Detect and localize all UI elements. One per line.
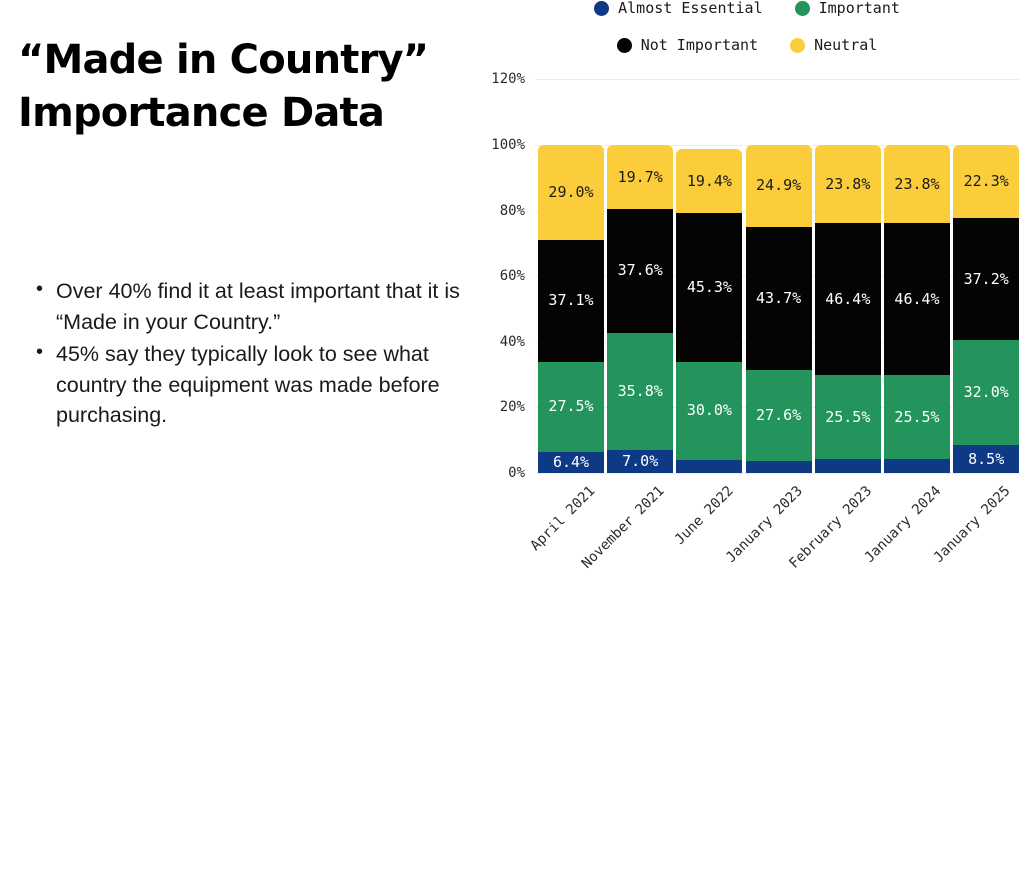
bar-value-label: 37.6% [618, 263, 663, 278]
bar-value-label: 35.8% [618, 384, 663, 399]
bars: 29.0%37.1%27.5%6.4%19.7%37.6%35.8%7.0%19… [470, 0, 1024, 576]
bar-segment-important[interactable]: 30.0% [676, 362, 742, 460]
bar-value-label: 37.2% [964, 272, 1009, 287]
bar-value-label: 25.5% [825, 410, 870, 425]
bar-stack[interactable]: 23.8%46.4%25.5% [884, 145, 950, 473]
bar-value-label: 6.4% [553, 455, 589, 470]
bar-segment-neutral[interactable]: 24.9% [746, 145, 812, 227]
bar-value-label: 27.6% [756, 408, 801, 423]
bar-value-label: 23.8% [825, 177, 870, 192]
bar-stack[interactable]: 19.7%37.6%35.8%7.0% [607, 145, 673, 473]
slide-text-panel: “Made in Country” Importance Data Over 4… [0, 0, 470, 576]
bar-segment-neutral[interactable]: 29.0% [538, 145, 604, 240]
bar-segment-essential[interactable] [746, 461, 812, 473]
bar-segment-important[interactable]: 25.5% [884, 375, 950, 459]
bar-segment-neutral[interactable]: 22.3% [953, 145, 1019, 218]
bar-stack[interactable]: 23.8%46.4%25.5% [815, 145, 881, 473]
bar-segment-neutral[interactable]: 23.8% [815, 145, 881, 223]
bar-value-label: 32.0% [964, 385, 1009, 400]
bar-segment-essential[interactable]: 8.5% [953, 445, 1019, 473]
chart-panel: Almost Essential Important Not Important… [470, 0, 1024, 576]
bar-segment-important[interactable]: 35.8% [607, 333, 673, 450]
bar-value-label: 22.3% [964, 174, 1009, 189]
bar-value-label: 29.0% [548, 185, 593, 200]
bar-segment-notimp[interactable]: 43.7% [746, 227, 812, 370]
bar-value-label: 46.4% [825, 292, 870, 307]
bar-segment-notimp[interactable]: 37.1% [538, 240, 604, 362]
bar-segment-essential[interactable]: 6.4% [538, 452, 604, 473]
list-item: 45% say they typically look to see what … [56, 339, 480, 431]
bar-segment-essential[interactable]: 7.0% [607, 450, 673, 473]
bar-value-label: 25.5% [894, 410, 939, 425]
bar-segment-neutral[interactable]: 19.7% [607, 145, 673, 210]
bar-segment-neutral[interactable]: 19.4% [676, 149, 742, 213]
bar-segment-important[interactable]: 27.6% [746, 370, 812, 461]
bar-stack[interactable]: 22.3%37.2%32.0%8.5% [953, 145, 1019, 473]
bar-value-label: 19.7% [618, 170, 663, 185]
bar-value-label: 8.5% [968, 452, 1004, 467]
bullet-list: Over 40% find it at least important that… [30, 276, 480, 433]
bar-segment-notimp[interactable]: 37.2% [953, 218, 1019, 340]
bar-segment-neutral[interactable]: 23.8% [884, 145, 950, 223]
bar-value-label: 43.7% [756, 291, 801, 306]
bar-value-label: 24.9% [756, 178, 801, 193]
bar-value-label: 37.1% [548, 293, 593, 308]
plot-area: 0%20%40%60%80%100%120% 29.0%37.1%27.5%6.… [470, 0, 1024, 576]
bar-stack[interactable]: 19.4%45.3%30.0% [676, 149, 742, 473]
page-title: “Made in Country” Importance Data [18, 34, 454, 140]
bar-value-label: 27.5% [548, 399, 593, 414]
list-item: Over 40% find it at least important that… [56, 276, 480, 337]
bar-segment-notimp[interactable]: 45.3% [676, 213, 742, 362]
bar-stack[interactable]: 24.9%43.7%27.6% [746, 145, 812, 473]
bar-value-label: 19.4% [687, 174, 732, 189]
bar-segment-notimp[interactable]: 46.4% [815, 223, 881, 375]
bar-segment-essential[interactable] [884, 459, 950, 473]
bar-value-label: 7.0% [622, 454, 658, 469]
bar-segment-notimp[interactable]: 46.4% [884, 223, 950, 375]
bar-segment-important[interactable]: 25.5% [815, 375, 881, 459]
bar-segment-essential[interactable] [676, 460, 742, 473]
bar-stack[interactable]: 29.0%37.1%27.5%6.4% [538, 145, 604, 473]
bar-segment-notimp[interactable]: 37.6% [607, 209, 673, 332]
bar-segment-essential[interactable] [815, 459, 881, 473]
bar-segment-important[interactable]: 27.5% [538, 362, 604, 452]
bar-value-label: 30.0% [687, 403, 732, 418]
bar-segment-important[interactable]: 32.0% [953, 340, 1019, 445]
bar-value-label: 23.8% [894, 177, 939, 192]
bar-value-label: 45.3% [687, 280, 732, 295]
bar-value-label: 46.4% [894, 292, 939, 307]
